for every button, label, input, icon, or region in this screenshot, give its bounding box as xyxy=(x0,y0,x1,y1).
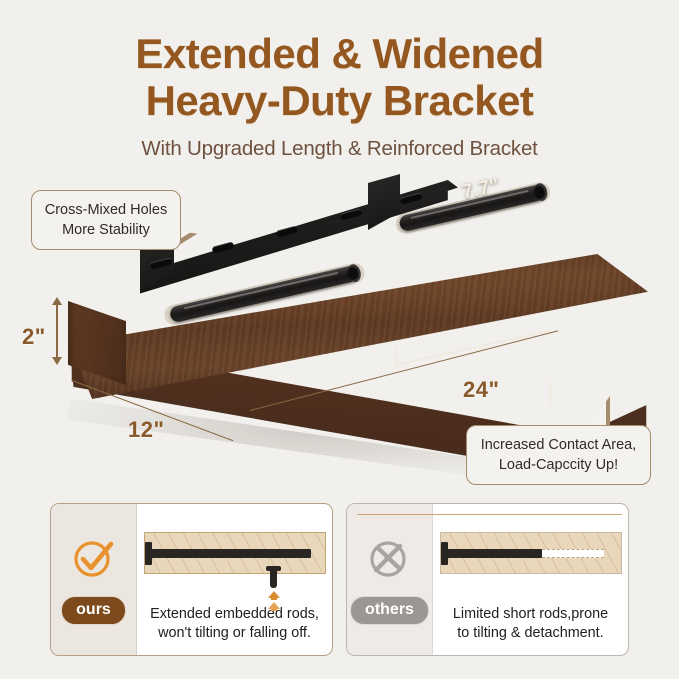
ours-caption-line-2: won't tilting or falling off. xyxy=(150,624,319,644)
callout-left-line-2: More Stability xyxy=(44,220,168,240)
others-wood-diagram xyxy=(440,532,622,574)
arrow-up-icon xyxy=(52,297,62,305)
ours-wood-diagram xyxy=(144,532,326,574)
ours-illustration-column: Extended embedded rods, won't tilting or… xyxy=(137,504,332,655)
callout-right-line-2: Load-Capccity Up! xyxy=(479,455,638,475)
comparison-panel-others: others Limited short rods,prone to tilti… xyxy=(346,503,629,656)
callout-right-line-1: Increased Contact Area, xyxy=(479,435,638,455)
others-caption-line-2: to tilting & detachment. xyxy=(453,624,608,644)
others-caption: Limited short rods,prone to tilting & de… xyxy=(447,605,614,655)
callout-right-tail-fill xyxy=(587,400,606,426)
up-chevrons-icon xyxy=(267,590,281,612)
infographic-root: Extended & Widened Heavy-Duty Bracket Wi… xyxy=(0,0,679,679)
title-line-1: Extended & Widened xyxy=(135,30,543,77)
ours-side-column: ours xyxy=(51,504,137,655)
page-title: Extended & Widened Heavy-Duty Bracket xyxy=(0,30,679,124)
embedded-rod xyxy=(447,549,542,558)
rod-dimension-line xyxy=(398,331,549,366)
rod-dimension-tick-left xyxy=(396,348,397,370)
title-line-2: Heavy-Duty Bracket xyxy=(0,77,679,124)
thickness-dimension-line xyxy=(56,300,58,362)
check-circle-icon xyxy=(70,534,118,582)
page-subtitle: With Upgraded Length & Reinforced Bracke… xyxy=(0,137,679,161)
comparison-panel-ours: ours Extended embedded rods, won't tilti… xyxy=(50,503,333,656)
dimension-label-thickness: 2" xyxy=(22,324,46,350)
panel-accent-line xyxy=(357,514,622,515)
dimension-label-depth: 12" xyxy=(128,417,164,443)
others-illustration-column: Limited short rods,prone to tilting & de… xyxy=(433,504,628,655)
rod-gap-void xyxy=(542,549,604,558)
ours-caption-line-1: Extended embedded rods, xyxy=(150,605,319,625)
cross-circle-icon xyxy=(366,534,414,582)
comparison-section: ours Extended embedded rods, won't tilti… xyxy=(0,503,679,663)
dimension-label-length: 24" xyxy=(463,377,499,403)
ours-caption: Extended embedded rods, won't tilting or… xyxy=(144,605,325,655)
others-badge: others xyxy=(350,596,429,625)
rod-dimension-tick-right xyxy=(550,380,551,406)
embedded-rod xyxy=(151,549,311,558)
callout-increased-contact-area: Increased Contact Area, Load-Capccity Up… xyxy=(466,425,651,485)
arrow-down-icon xyxy=(52,357,62,365)
callout-left-line-1: Cross-Mixed Holes xyxy=(44,200,168,220)
screw-icon xyxy=(270,566,277,588)
callout-cross-mixed-holes: Cross-Mixed Holes More Stability xyxy=(31,190,181,250)
header-block: Extended & Widened Heavy-Duty Bracket Wi… xyxy=(0,30,679,161)
ours-badge: ours xyxy=(61,596,126,625)
others-side-column: others xyxy=(347,504,433,655)
others-caption-line-1: Limited short rods,prone xyxy=(453,605,608,625)
